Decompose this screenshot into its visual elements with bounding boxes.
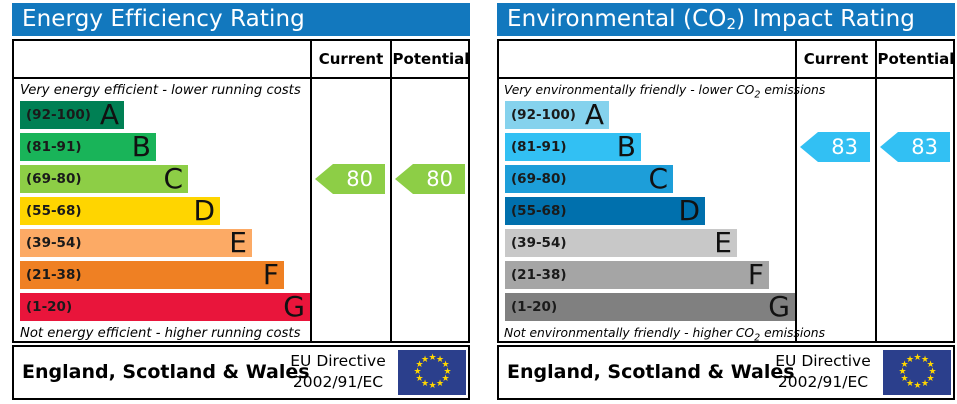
band-range: (55-68): [511, 197, 567, 225]
band-range: (55-68): [26, 197, 82, 225]
band-letter: D: [678, 197, 700, 225]
caption-top-environmental: Very environmentally friendly - lower CO…: [504, 83, 796, 100]
rating-table-energy: Current Potential Very energy efficient …: [12, 39, 470, 343]
band-letter: F: [263, 261, 279, 289]
band-letter: D: [193, 197, 215, 225]
header-potential: Potential: [392, 41, 470, 77]
current-rating-arrow-environmental: 83: [800, 132, 870, 162]
eu-flag-star: ★: [921, 381, 928, 388]
footer-directive: EU Directive 2002/91/EC: [769, 351, 877, 393]
footer-region-label: England, Scotland & Wales: [22, 347, 310, 398]
rating-table-environmental: Current Potential Very environmentally f…: [497, 39, 955, 343]
band-letter: E: [229, 229, 247, 257]
table-header-row: Current Potential: [499, 41, 953, 79]
band-range: (81-91): [26, 133, 82, 161]
band-letter: F: [748, 261, 764, 289]
band-letter: B: [617, 133, 636, 161]
table-header-row: Current Potential: [14, 41, 468, 79]
energy-efficiency-rating-chart: Energy Efficiency Rating Current Potenti…: [0, 0, 472, 404]
band-d: (55-68) D: [20, 197, 220, 225]
caption-bottom-prefix: Not environmentally friendly - higher CO: [504, 326, 754, 340]
caption-top-energy: Very energy efficient - lower running co…: [20, 83, 312, 98]
column-divider-2: [390, 41, 392, 341]
band-range: (39-54): [26, 229, 82, 257]
epc-charts-page: Energy Efficiency Rating Current Potenti…: [0, 0, 957, 404]
potential-rating-arrow-environmental: 83: [880, 132, 950, 162]
footer-region-label: England, Scotland & Wales: [507, 347, 795, 398]
eu-flag-star: ★: [436, 381, 443, 388]
eu-flag-icon: ★★★★★★★★★★★★: [398, 350, 466, 395]
band-a: (92-100) A: [20, 101, 124, 129]
band-letter: C: [163, 165, 183, 193]
band-b: (81-91) B: [20, 133, 156, 161]
footer-directive-line1: EU Directive: [769, 351, 877, 372]
chart-title-text: Energy Efficiency Rating: [22, 6, 305, 32]
chart-title-subscript: 2: [727, 15, 737, 33]
header-current: Current: [797, 41, 875, 77]
header-potential: Potential: [877, 41, 955, 77]
band-list-environmental: (92-100) A (81-91) B (69-80) C (55-68) D…: [499, 101, 795, 325]
current-rating-arrow-energy: 80: [315, 164, 385, 194]
eu-flag-star: ★: [901, 376, 908, 383]
caption-top-prefix: Very environmentally friendly - lower CO: [504, 83, 754, 97]
chart-title-energy: Energy Efficiency Rating: [12, 3, 470, 36]
band-letter: G: [283, 293, 305, 321]
footer-environmental: England, Scotland & Wales EU Directive 2…: [497, 345, 955, 400]
chart-title-text: Environmental (CO: [507, 6, 727, 32]
footer-directive-line2: 2002/91/EC: [769, 372, 877, 393]
environmental-impact-rating-chart: Environmental (CO2) Impact Rating Curren…: [485, 0, 957, 404]
band-f: (21-38) F: [20, 261, 284, 289]
band-letter: B: [132, 133, 151, 161]
footer-energy: England, Scotland & Wales EU Directive 2…: [12, 345, 470, 400]
band-range: (21-38): [511, 261, 567, 289]
band-e: (39-54) E: [20, 229, 252, 257]
chart-title-environmental: Environmental (CO2) Impact Rating: [497, 3, 955, 36]
band-e: (39-54) E: [505, 229, 737, 257]
footer-directive-line1: EU Directive: [284, 351, 392, 372]
band-a: (92-100) A: [505, 101, 609, 129]
header-current: Current: [312, 41, 390, 77]
band-letter: C: [648, 165, 668, 193]
eu-flag-star: ★: [429, 355, 436, 362]
band-letter: A: [100, 101, 119, 129]
band-letter: E: [714, 229, 732, 257]
band-range: (92-100): [511, 101, 576, 129]
eu-flag-star: ★: [416, 376, 423, 383]
band-f: (21-38) F: [505, 261, 769, 289]
caption-bottom-energy: Not energy efficient - higher running co…: [20, 326, 312, 341]
eu-flag-star: ★: [914, 383, 921, 390]
band-g: (1-20) G: [20, 293, 310, 321]
eu-flag-star: ★: [899, 369, 906, 376]
eu-flag-star: ★: [421, 357, 428, 364]
band-range: (39-54): [511, 229, 567, 257]
column-divider-2: [875, 41, 877, 341]
eu-flag-star: ★: [914, 355, 921, 362]
band-b: (81-91) B: [505, 133, 641, 161]
eu-flag-icon: ★★★★★★★★★★★★: [883, 350, 951, 395]
band-range: (81-91): [511, 133, 567, 161]
band-g: (1-20) G: [505, 293, 795, 321]
band-c: (69-80) C: [505, 165, 673, 193]
band-range: (1-20): [511, 293, 557, 321]
caption-bottom-suffix: emissions: [760, 326, 825, 340]
chart-title-text-suffix: ) Impact Rating: [736, 6, 915, 32]
potential-rating-arrow-energy: 80: [395, 164, 465, 194]
band-range: (21-38): [26, 261, 82, 289]
footer-directive: EU Directive 2002/91/EC: [284, 351, 392, 393]
band-c: (69-80) C: [20, 165, 188, 193]
band-range: (1-20): [26, 293, 72, 321]
caption-top-suffix: emissions: [760, 83, 825, 97]
band-letter: A: [585, 101, 604, 129]
caption-bottom-environmental: Not environmentally friendly - higher CO…: [504, 326, 796, 343]
eu-flag-star: ★: [414, 369, 421, 376]
band-range: (69-80): [26, 165, 82, 193]
band-range: (92-100): [26, 101, 91, 129]
eu-flag-star: ★: [429, 383, 436, 390]
band-d: (55-68) D: [505, 197, 705, 225]
footer-directive-line2: 2002/91/EC: [284, 372, 392, 393]
band-list-energy: (92-100) A (81-91) B (69-80) C (55-68) D…: [14, 101, 310, 325]
eu-flag-star: ★: [906, 357, 913, 364]
band-letter: G: [768, 293, 790, 321]
band-range: (69-80): [511, 165, 567, 193]
